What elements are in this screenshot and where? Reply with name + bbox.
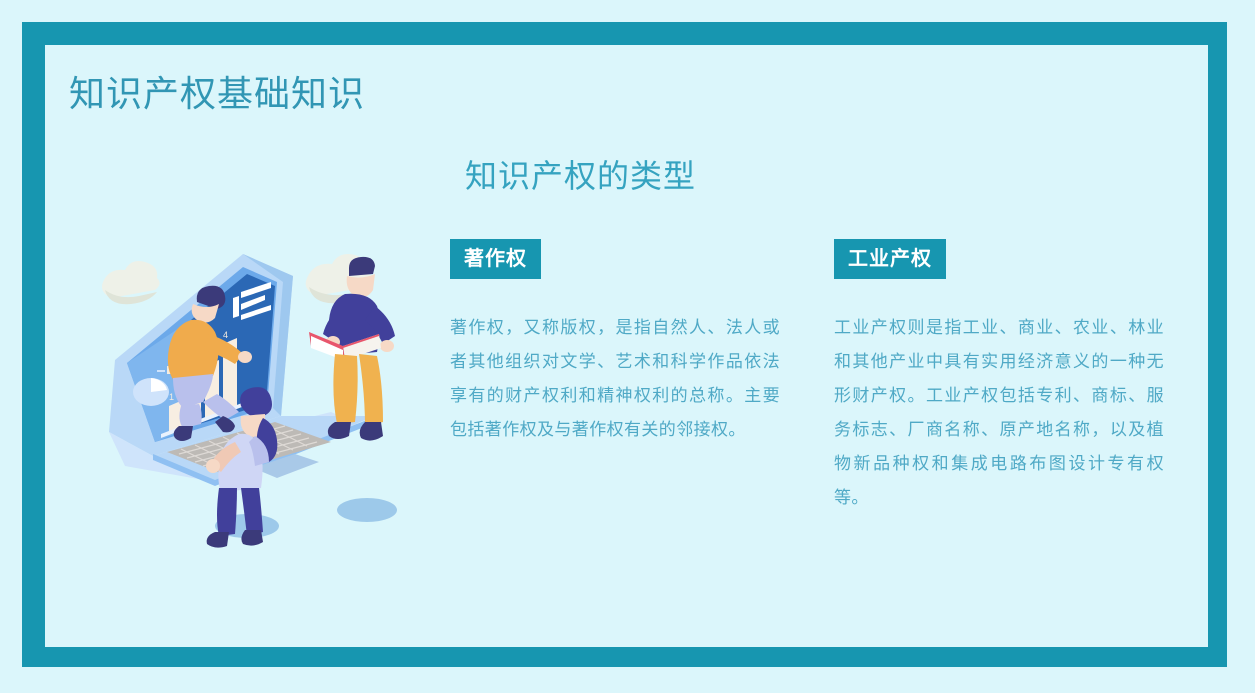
badge-industrial-property: 工业产权 (834, 239, 946, 279)
column-industrial-property: 工业产权 工业产权则是指工业、商业、农业、林业和其他产业中具有实用经济意义的一种… (834, 239, 1164, 515)
badge-copyright: 著作权 (450, 239, 541, 279)
bar-label-1: 1 (169, 392, 174, 402)
section-title: 知识产权的类型 (465, 155, 1180, 197)
cloud-icon-left (102, 261, 160, 304)
shoe-right (360, 422, 383, 441)
shadow (337, 498, 397, 522)
shoe-right (241, 530, 263, 546)
slide-content: 知识产权基础知识 (45, 45, 1208, 647)
body-text-copyright: 著作权，又称版权，是指自然人、法人或者其他组织对文学、艺术和科学作品依法享有的财… (450, 311, 780, 447)
columns-container: 著作权 著作权，又称版权，是指自然人、法人或者其他组织对文学、艺术和科学作品依法… (450, 239, 1180, 515)
bar-label-4: 4 (223, 330, 228, 340)
shoe-left (207, 532, 229, 548)
column-copyright: 著作权 著作权，又称版权，是指自然人、法人或者其他组织对文学、艺术和科学作品依法… (450, 239, 780, 515)
body-text-industrial-property: 工业产权则是指工业、商业、农业、林业和其他产业中具有实用经济意义的一种无形财产权… (834, 311, 1164, 515)
right-content-panel: 知识产权的类型 著作权 著作权，又称版权，是指自然人、法人或者其他组织对文学、艺… (450, 155, 1180, 515)
slide: 知识产权基础知识 (0, 0, 1255, 693)
page-title: 知识产权基础知识 (69, 72, 365, 116)
isometric-laptop-people-illustration: 1 2 4 (95, 220, 435, 550)
